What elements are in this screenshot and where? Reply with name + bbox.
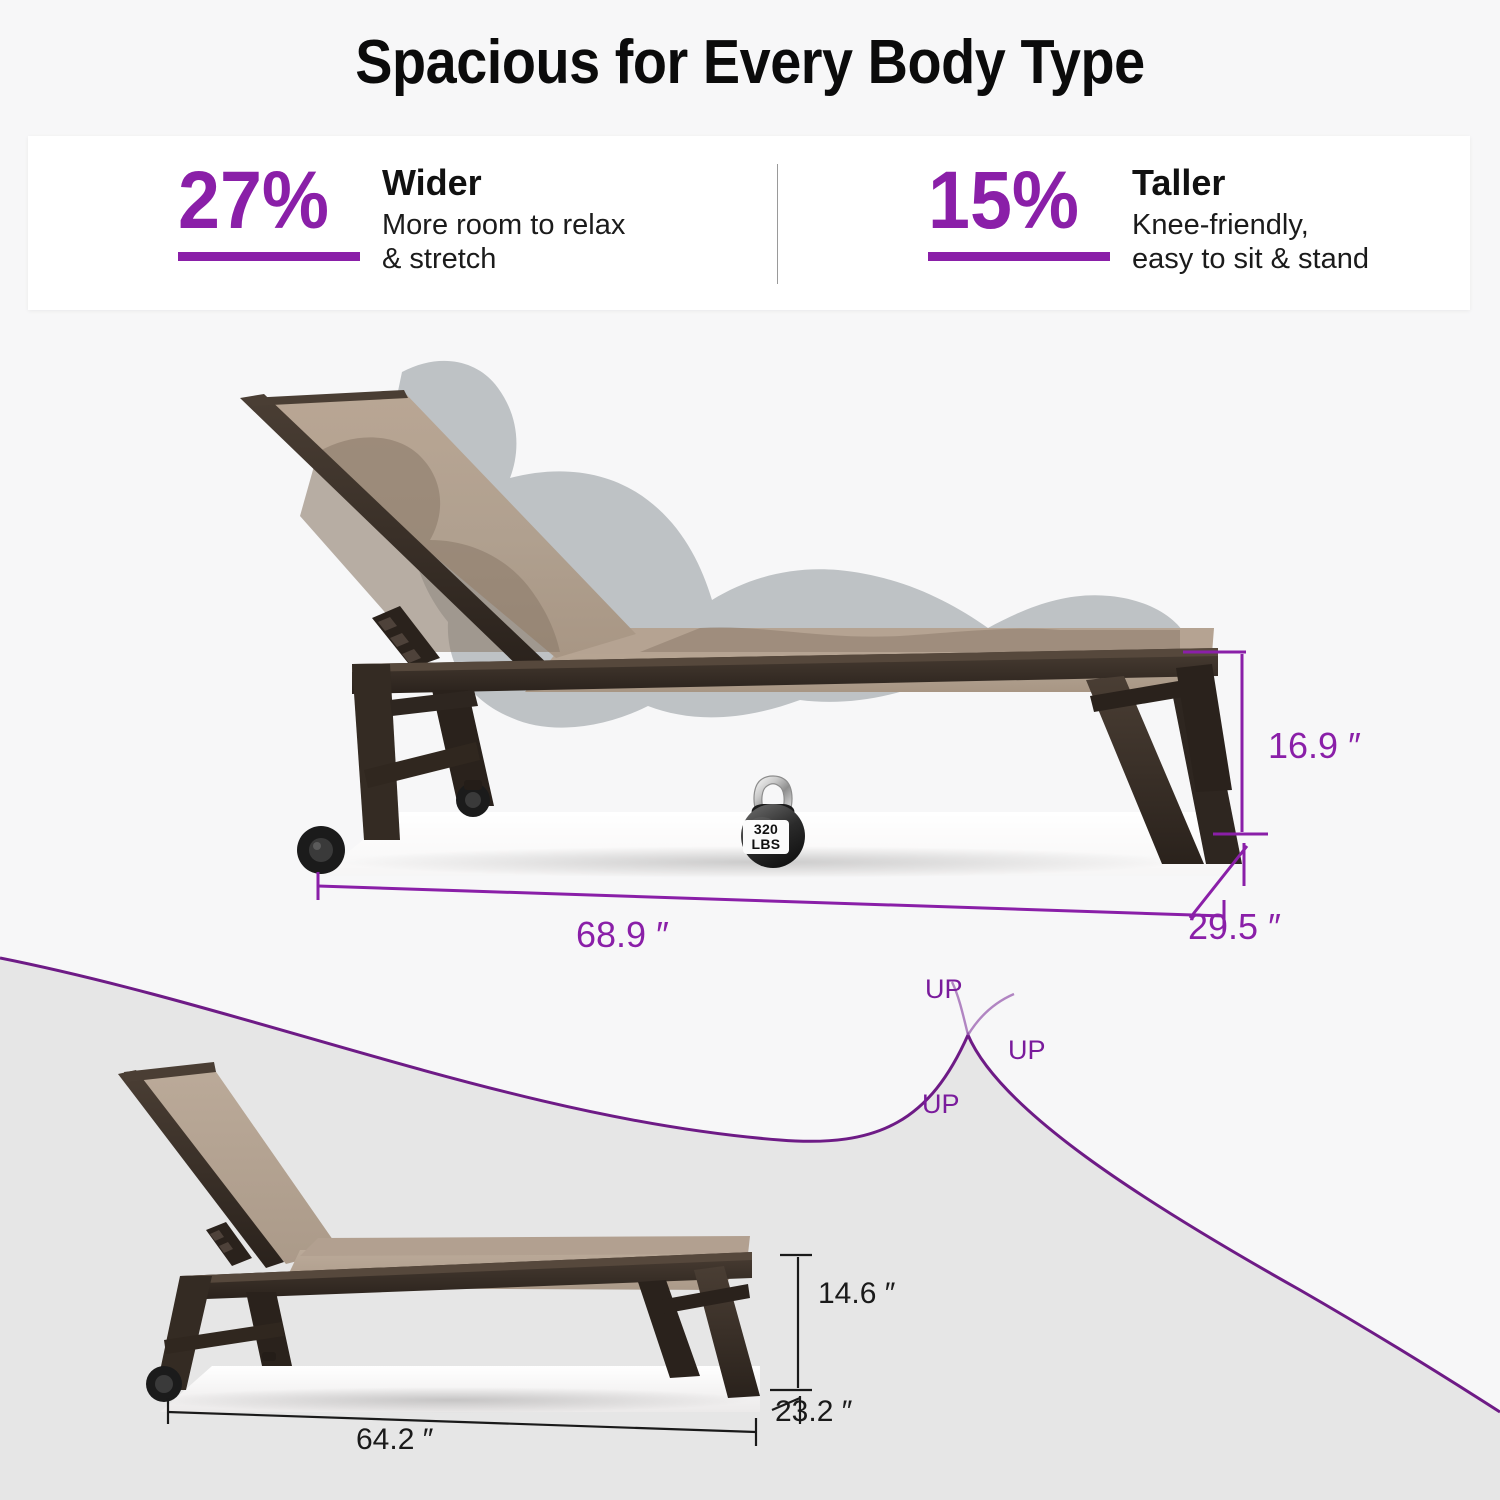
weight-badge: 320 LBS <box>743 820 789 854</box>
stat-title: Wider <box>382 162 625 204</box>
stat-accent-rule <box>928 252 1110 261</box>
weight-capacity-kettlebell: 320 LBS <box>726 768 820 872</box>
weight-value: 320 <box>754 822 778 837</box>
dimension-label-height-top: 16.9 ″ <box>1268 726 1361 766</box>
stat-block-wider: 27% Wider More room to relax & stretch <box>178 158 625 276</box>
stat-text-wrapper: Taller Knee-friendly, easy to sit & stan… <box>1132 158 1369 276</box>
stats-divider <box>777 164 778 284</box>
stat-subtitle: More room to relax & stretch <box>382 208 625 276</box>
up-label-1: UP <box>925 974 963 1004</box>
dimension-label-depth-top: 29.5 ″ <box>1188 907 1281 947</box>
stat-percent-wrapper: 15% <box>928 158 1132 261</box>
stat-block-taller: 15% Taller Knee-friendly, easy to sit & … <box>928 158 1369 276</box>
dimension-label-length-bottom: 64.2 ″ <box>356 1423 433 1457</box>
stat-text-wrapper: Wider More room to relax & stretch <box>382 158 625 276</box>
weight-unit: LBS <box>752 837 781 852</box>
stat-percent-value: 15% <box>928 158 1095 244</box>
infographic-stage: Spacious for Every Body Type 27% Wider M… <box>0 0 1500 1500</box>
stat-percent-wrapper: 27% <box>178 158 382 261</box>
stats-card: 27% Wider More room to relax & stretch 1… <box>28 136 1470 310</box>
up-label-3: UP <box>922 1089 960 1119</box>
dimension-label-height-bottom: 14.6 ″ <box>818 1277 895 1311</box>
dimension-label-length-top: 68.9 ″ <box>576 915 669 955</box>
page-title: Spacious for Every Body Type <box>75 26 1425 100</box>
dimension-label-depth-bottom: 23.2 ″ <box>775 1395 852 1429</box>
stat-title: Taller <box>1132 162 1369 204</box>
stat-subtitle: Knee-friendly, easy to sit & stand <box>1132 208 1369 276</box>
up-label-2: UP <box>1008 1035 1046 1065</box>
stat-percent-value: 27% <box>178 158 345 244</box>
stat-accent-rule <box>178 252 360 261</box>
